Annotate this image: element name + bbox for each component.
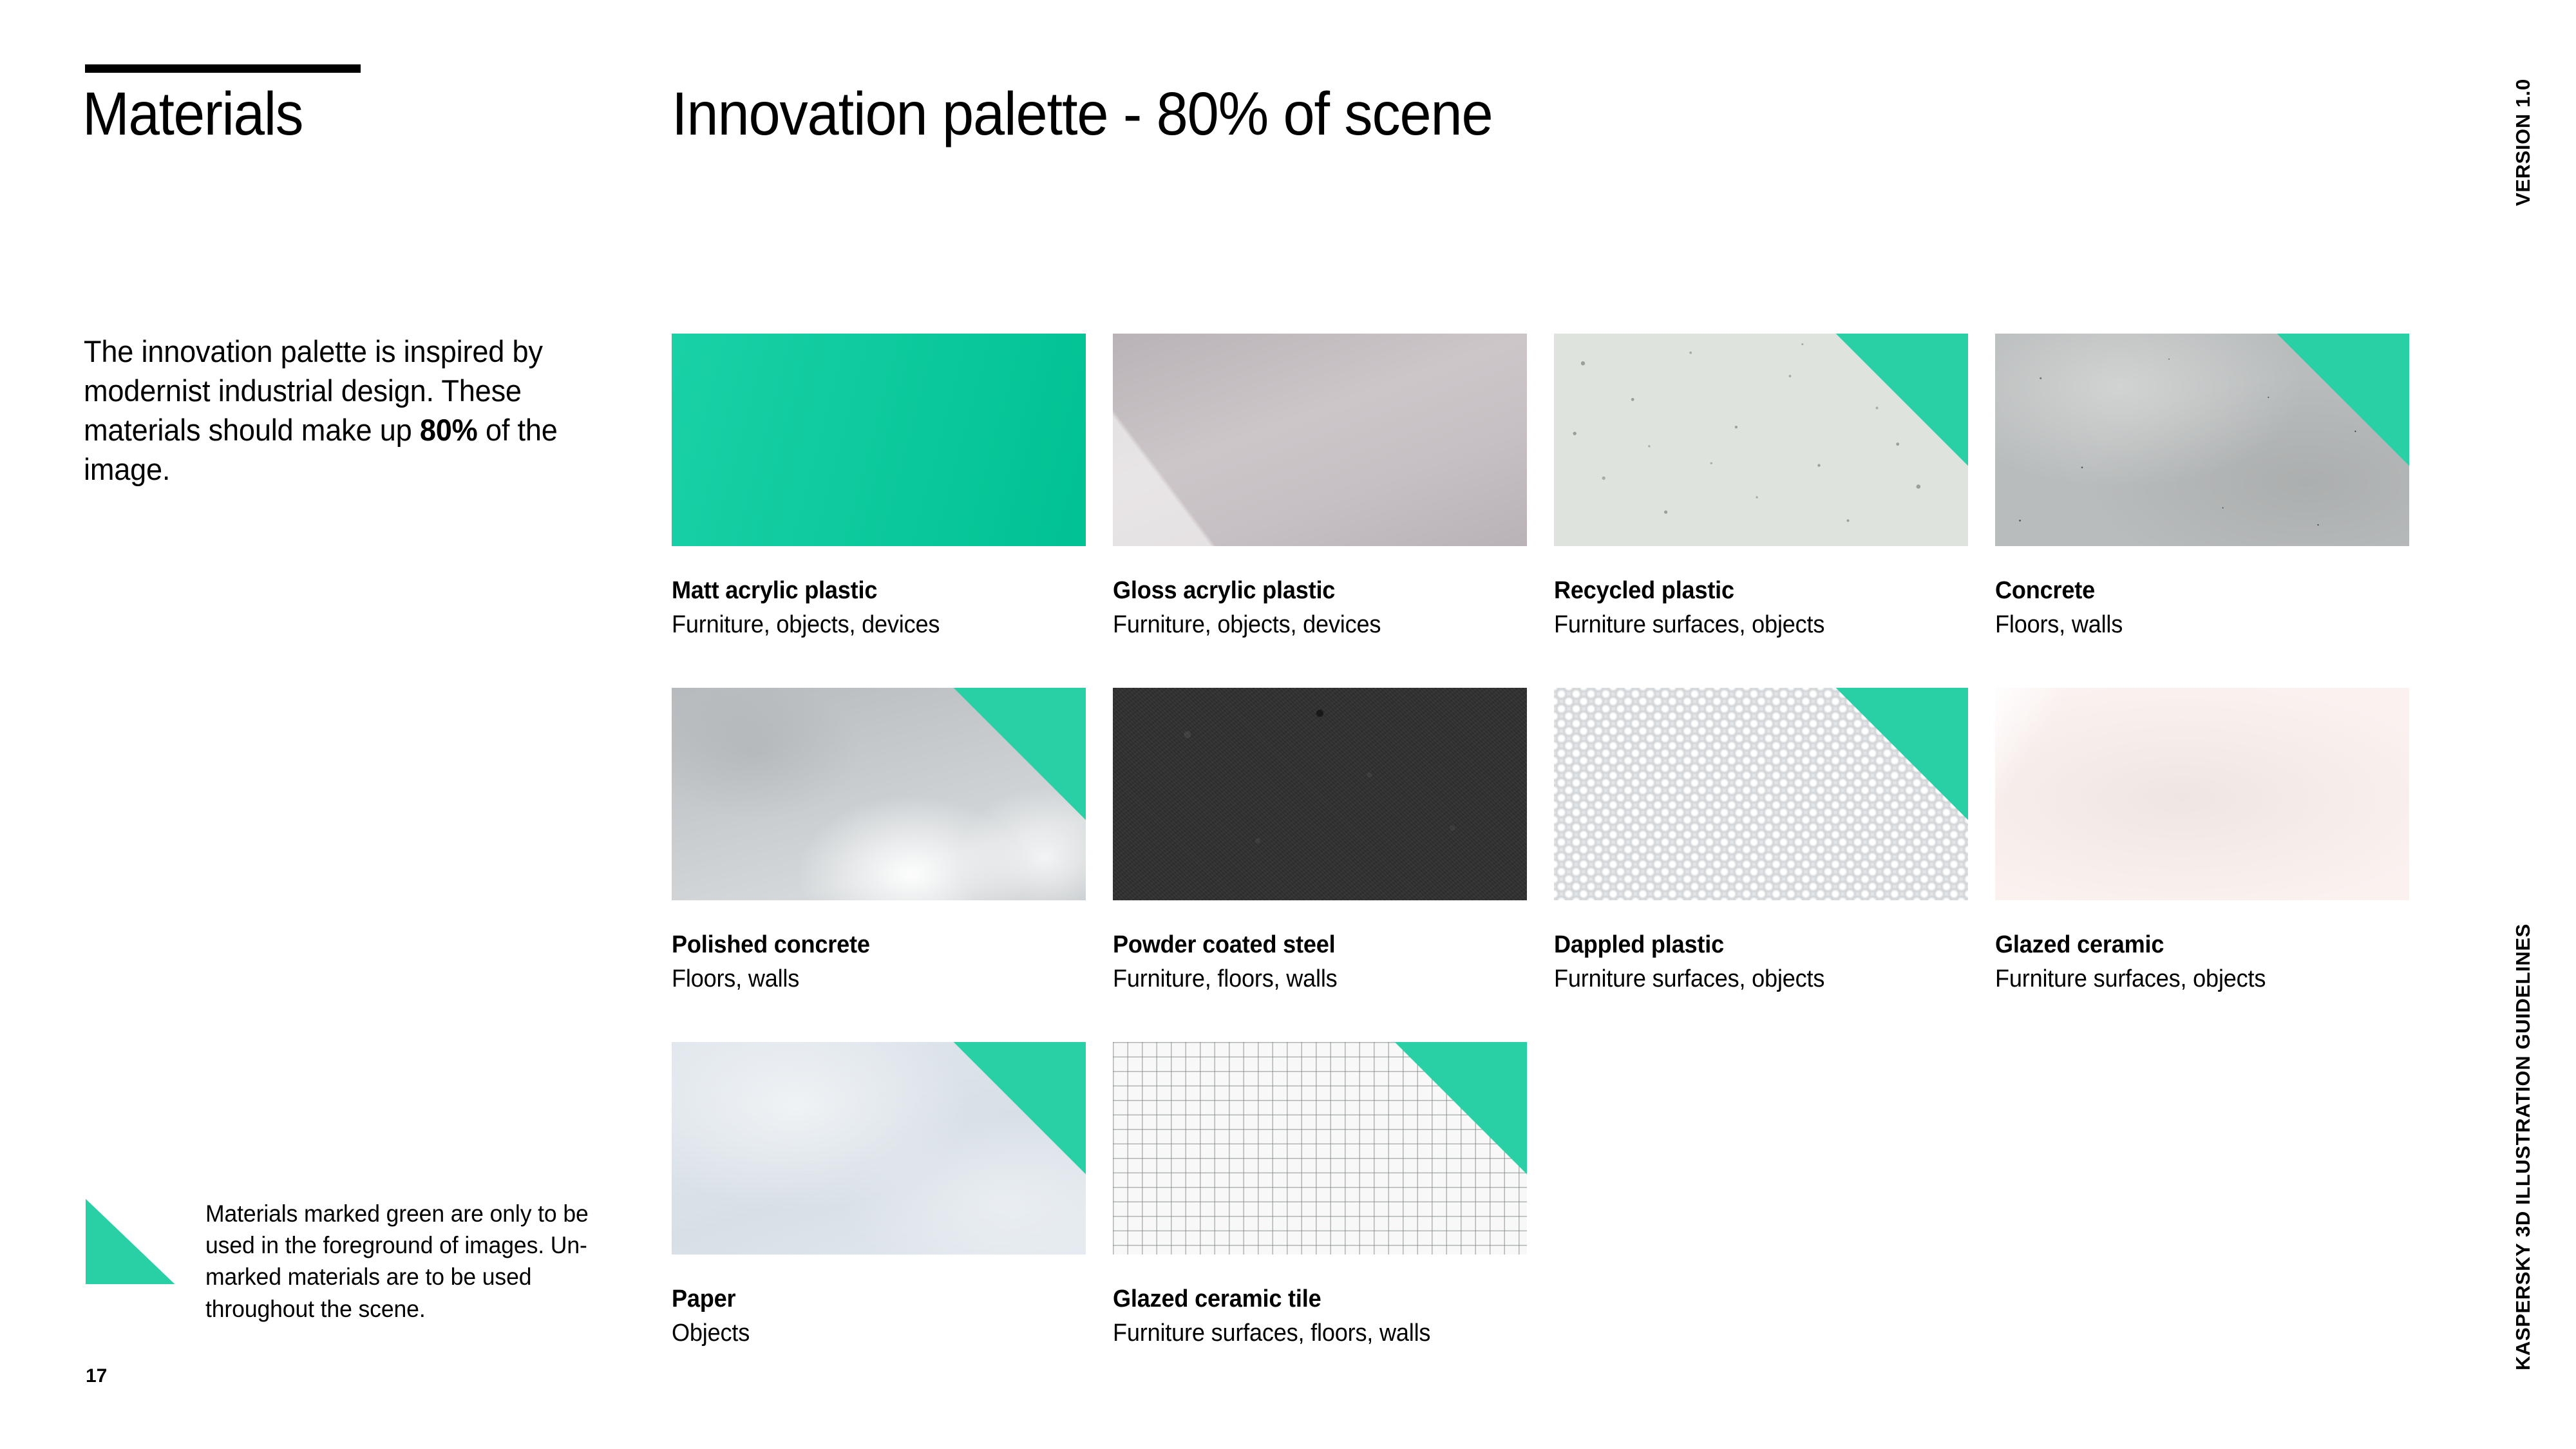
foreground-only-corner-flag-icon <box>2277 334 2409 466</box>
legend-text: Materials marked green are only to be us… <box>205 1198 589 1325</box>
material-texture-swatch <box>1113 334 1527 546</box>
foreground-only-corner-flag-icon <box>1394 1042 1527 1175</box>
material-texture-swatch <box>1995 688 2409 900</box>
material-card[interactable]: PaperObjects <box>672 1042 1086 1347</box>
material-usage: Furniture surfaces, objects <box>1995 965 2389 993</box>
material-usage: Furniture, objects, devices <box>1113 611 1506 639</box>
material-card[interactable]: Glazed ceramic tileFurniture surfaces, f… <box>1113 1042 1527 1347</box>
material-texture-swatch <box>1113 1042 1527 1255</box>
material-usage: Furniture surfaces, objects <box>1554 611 1947 639</box>
slide-title: Innovation palette - 80% of scene <box>672 82 1493 147</box>
material-usage: Furniture, objects, devices <box>672 611 1065 639</box>
material-name: Gloss acrylic plastic <box>1113 577 1506 605</box>
material-name: Recycled plastic <box>1554 577 1947 605</box>
material-name: Powder coated steel <box>1113 931 1506 959</box>
material-texture-swatch <box>1554 688 1968 900</box>
foreground-only-corner-flag-icon <box>1835 334 1968 466</box>
material-card[interactable]: Glazed ceramicFurniture surfaces, object… <box>1995 688 2409 993</box>
foreground-only-corner-flag-icon <box>953 688 1086 820</box>
material-texture-swatch <box>672 1042 1086 1255</box>
material-card[interactable]: Dappled plasticFurniture surfaces, objec… <box>1554 688 1968 993</box>
material-texture-swatch <box>672 334 1086 546</box>
material-usage: Floors, walls <box>672 965 1065 993</box>
material-card[interactable]: Gloss acrylic plasticFurniture, objects,… <box>1113 334 1527 639</box>
material-name: Concrete <box>1995 577 2389 605</box>
material-name: Polished concrete <box>672 931 1065 959</box>
material-usage: Furniture, floors, walls <box>1113 965 1506 993</box>
material-texture-swatch <box>1113 688 1527 900</box>
document-title-label: KASPERSKY 3D ILLUSTRATION GUIDELINES <box>2512 923 2535 1370</box>
material-name: Dappled plastic <box>1554 931 1947 959</box>
material-name: Glazed ceramic <box>1995 931 2389 959</box>
page-number: 17 <box>86 1365 107 1387</box>
material-card[interactable]: Powder coated steelFurniture, floors, wa… <box>1113 688 1527 993</box>
version-label: VERSION 1.0 <box>2512 79 2535 206</box>
material-card[interactable]: Matt acrylic plasticFurniture, objects, … <box>672 334 1086 639</box>
material-usage: Furniture surfaces, floors, walls <box>1113 1320 1506 1347</box>
foreground-only-corner-flag-icon <box>953 1042 1086 1175</box>
material-name: Paper <box>672 1285 1065 1313</box>
material-usage: Furniture surfaces, objects <box>1554 965 1947 993</box>
material-texture-swatch <box>1995 334 2409 546</box>
material-usage: Floors, walls <box>1995 611 2389 639</box>
material-card[interactable]: Polished concreteFloors, walls <box>672 688 1086 993</box>
green-corner-triangle-icon <box>86 1199 175 1284</box>
material-card[interactable]: ConcreteFloors, walls <box>1995 334 2409 639</box>
section-rule <box>85 64 361 73</box>
material-texture-swatch <box>1554 334 1968 546</box>
material-name: Matt acrylic plastic <box>672 577 1065 605</box>
material-usage: Objects <box>672 1320 1065 1347</box>
material-texture-swatch <box>672 688 1086 900</box>
foreground-only-corner-flag-icon <box>1835 688 1968 820</box>
material-name: Glazed ceramic tile <box>1113 1285 1506 1313</box>
intro-text-emphasis: 80% <box>420 413 478 447</box>
material-card[interactable]: Recycled plasticFurniture surfaces, obje… <box>1554 334 1968 639</box>
page-title: Materials <box>82 82 303 147</box>
intro-paragraph: The innovation palette is inspired by mo… <box>84 332 585 489</box>
